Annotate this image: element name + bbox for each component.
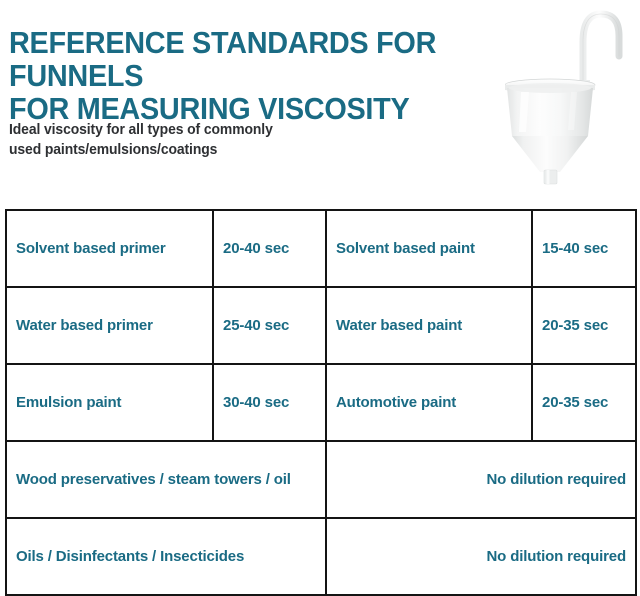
cell-material-left: Emulsion paint	[6, 364, 213, 441]
cell-dilution-note: No dilution required	[326, 518, 636, 595]
page-subtitle: Ideal viscosity for all types of commonl…	[9, 120, 412, 160]
table-row: Oils / Disinfectants / Insecticides No d…	[6, 518, 636, 595]
cell-material-left: Solvent based primer	[6, 210, 213, 287]
cell-viscosity-right: 20-35 sec	[532, 287, 636, 364]
cell-material-right: Automotive paint	[326, 364, 532, 441]
viscosity-reference-table: Solvent based primer 20-40 sec Solvent b…	[5, 209, 637, 596]
viscosity-funnel-image	[505, 0, 640, 190]
cell-material-left: Water based primer	[6, 287, 213, 364]
cell-material-group: Wood preservatives / steam towers / oil	[6, 441, 326, 518]
table-row: Solvent based primer 20-40 sec Solvent b…	[6, 210, 636, 287]
funnel-hook-icon	[583, 14, 619, 88]
funnel-spout-icon	[544, 170, 557, 184]
cell-viscosity-right: 15-40 sec	[532, 210, 636, 287]
cell-dilution-note: No dilution required	[326, 441, 636, 518]
table-row: Emulsion paint 30-40 sec Automotive pain…	[6, 364, 636, 441]
cell-viscosity-left: 25-40 sec	[213, 287, 326, 364]
table-row: Water based primer 25-40 sec Water based…	[6, 287, 636, 364]
page-title: REFERENCE STANDARDS FOR FUNNELS FOR MEAS…	[9, 26, 567, 125]
table-row: Wood preservatives / steam towers / oil …	[6, 441, 636, 518]
table-body: Solvent based primer 20-40 sec Solvent b…	[6, 210, 636, 595]
cell-viscosity-right: 20-35 sec	[532, 364, 636, 441]
header: REFERENCE STANDARDS FOR FUNNELS FOR MEAS…	[0, 0, 640, 200]
cell-material-group: Oils / Disinfectants / Insecticides	[6, 518, 326, 595]
cell-material-right: Solvent based paint	[326, 210, 532, 287]
cell-material-right: Water based paint	[326, 287, 532, 364]
cell-viscosity-left: 20-40 sec	[213, 210, 326, 287]
cell-viscosity-left: 30-40 sec	[213, 364, 326, 441]
funnel-icon	[505, 0, 640, 190]
